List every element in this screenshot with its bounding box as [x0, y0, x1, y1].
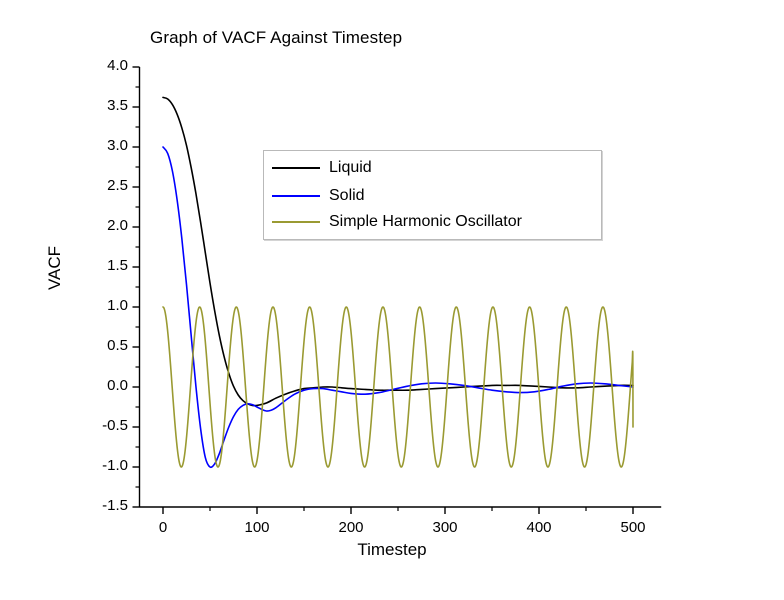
x-tick-label: 100 — [217, 519, 297, 536]
y-tick-label: 4.0 — [60, 57, 128, 74]
chart-figure: Graph of VACF Against Timestep -1.5-1.0-… — [0, 0, 784, 600]
x-tick-label: 300 — [405, 519, 485, 536]
y-tick-label: 3.0 — [60, 137, 128, 154]
x-tick-label: 200 — [311, 519, 391, 536]
legend-item-solid: Solid — [272, 183, 365, 209]
y-tick-label: 0.5 — [60, 337, 128, 354]
y-tick-label: -1.0 — [60, 457, 128, 474]
x-tick-label: 0 — [123, 519, 203, 536]
legend-swatch-sho — [272, 221, 320, 223]
x-tick-label: 400 — [499, 519, 579, 536]
series-line-liquid — [163, 97, 633, 405]
y-tick-label: 1.0 — [60, 297, 128, 314]
legend-swatch-solid — [272, 195, 320, 197]
y-tick-label: 1.5 — [60, 257, 128, 274]
x-axis-title: Timestep — [0, 540, 784, 560]
legend-item-liquid: Liquid — [272, 155, 372, 181]
legend-label-solid: Solid — [329, 188, 365, 204]
y-tick-label: -0.5 — [60, 417, 128, 434]
x-tick-label: 500 — [593, 519, 673, 536]
legend-item-sho: Simple Harmonic Oscillator — [272, 209, 522, 235]
y-tick-label: 2.5 — [60, 177, 128, 194]
y-tick-label: -1.5 — [60, 497, 128, 514]
y-tick-label: 0.0 — [60, 377, 128, 394]
y-tick-label: 2.0 — [60, 217, 128, 234]
y-axis-title: VACF — [45, 208, 65, 328]
legend-label-sho: Simple Harmonic Oscillator — [329, 214, 522, 230]
chart-legend: Liquid Solid Simple Harmonic Oscillator — [263, 150, 602, 240]
legend-label-liquid: Liquid — [329, 160, 372, 176]
y-tick-label: 3.5 — [60, 97, 128, 114]
legend-swatch-liquid — [272, 167, 320, 169]
